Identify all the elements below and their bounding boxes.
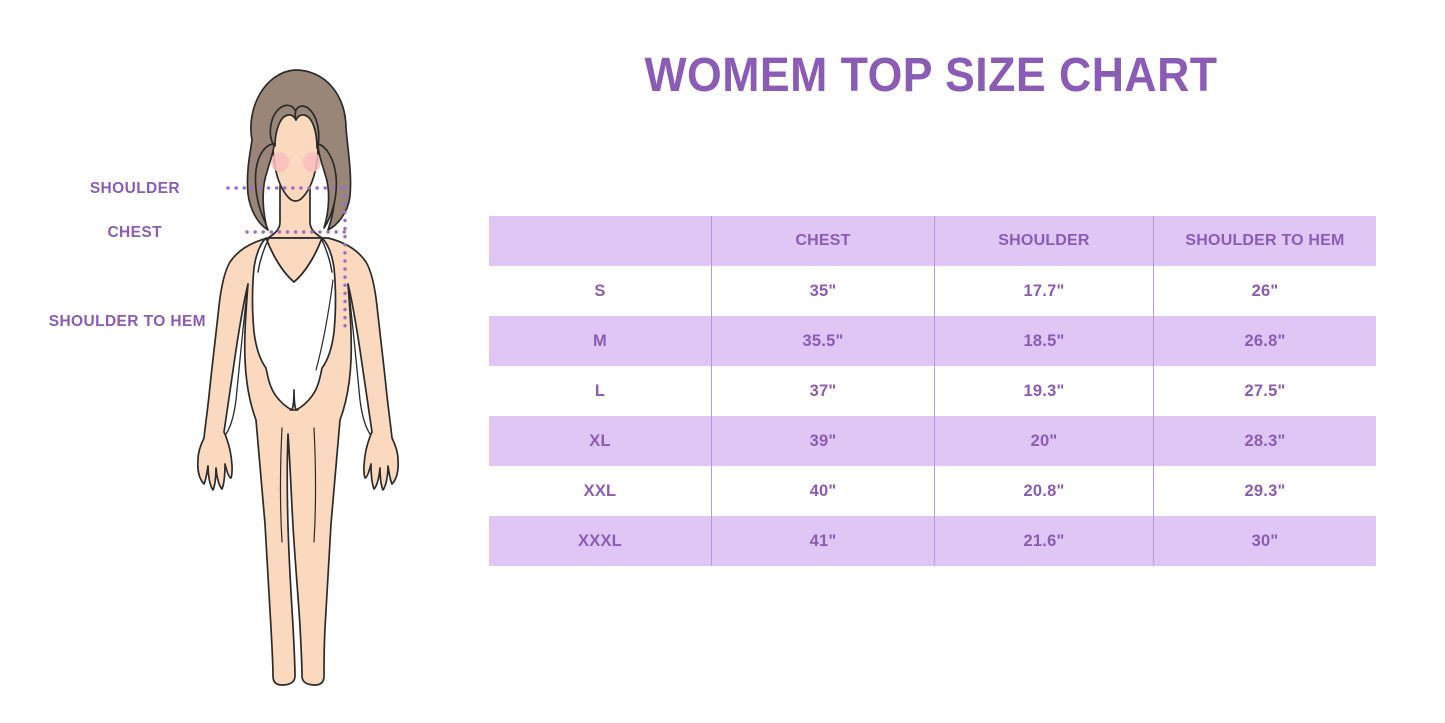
cell-chest: 35.5" <box>712 316 935 366</box>
cell-shoulder: 21.6" <box>935 516 1154 566</box>
cell-shoulder-to-hem: 30" <box>1154 516 1377 566</box>
cell-chest: 41" <box>712 516 935 566</box>
figure-svg <box>170 48 420 688</box>
page-title: WOMEM TOP SIZE CHART <box>520 48 1342 103</box>
cell-shoulder-to-hem: 27.5" <box>1154 366 1377 416</box>
table-row: XL 39" 20" 28.3" <box>489 416 1376 466</box>
cell-shoulder-to-hem: 28.3" <box>1154 416 1377 466</box>
measurement-label-shoulder: SHOULDER <box>0 180 180 198</box>
cell-size: XXL <box>489 466 712 516</box>
cell-size: XL <box>489 416 712 466</box>
cell-shoulder-to-hem: 29.3" <box>1154 466 1377 516</box>
table-row: XXL 40" 20.8" 29.3" <box>489 466 1376 516</box>
table-row: S 35" 17.7" 26" <box>489 266 1376 316</box>
header-cell-shoulder-to-hem: SHOULDER TO HEM <box>1154 216 1377 266</box>
female-figure-illustration <box>170 48 420 688</box>
measurement-label-chest: CHEST <box>0 224 162 242</box>
cell-chest: 37" <box>712 366 935 416</box>
header-cell-shoulder: SHOULDER <box>935 216 1154 266</box>
cell-chest: 40" <box>712 466 935 516</box>
cell-shoulder: 17.7" <box>935 266 1154 316</box>
cell-shoulder-to-hem: 26" <box>1154 266 1377 316</box>
cell-chest: 35" <box>712 266 935 316</box>
cell-size: S <box>489 266 712 316</box>
cell-chest: 39" <box>712 416 935 466</box>
blush-right <box>303 152 321 172</box>
header-cell-chest: CHEST <box>712 216 935 266</box>
cell-size: XXXL <box>489 516 712 566</box>
cell-size: L <box>489 366 712 416</box>
cell-shoulder: 19.3" <box>935 366 1154 416</box>
table-row: M 35.5" 18.5" 26.8" <box>489 316 1376 366</box>
cell-shoulder-to-hem: 26.8" <box>1154 316 1377 366</box>
size-chart-page: WOMEM TOP SIZE CHART SHOULDER CHEST SHOU… <box>0 0 1445 723</box>
cell-shoulder: 18.5" <box>935 316 1154 366</box>
cell-shoulder: 20.8" <box>935 466 1154 516</box>
table-header-row: CHEST SHOULDER SHOULDER TO HEM <box>489 216 1376 266</box>
header-cell-size <box>489 216 712 266</box>
size-chart-table: CHEST SHOULDER SHOULDER TO HEM S 35" 17.… <box>489 216 1376 566</box>
blush-left <box>271 152 289 172</box>
table-row: XXXL 41" 21.6" 30" <box>489 516 1376 566</box>
table-row: L 37" 19.3" 27.5" <box>489 366 1376 416</box>
cell-size: M <box>489 316 712 366</box>
cell-shoulder: 20" <box>935 416 1154 466</box>
